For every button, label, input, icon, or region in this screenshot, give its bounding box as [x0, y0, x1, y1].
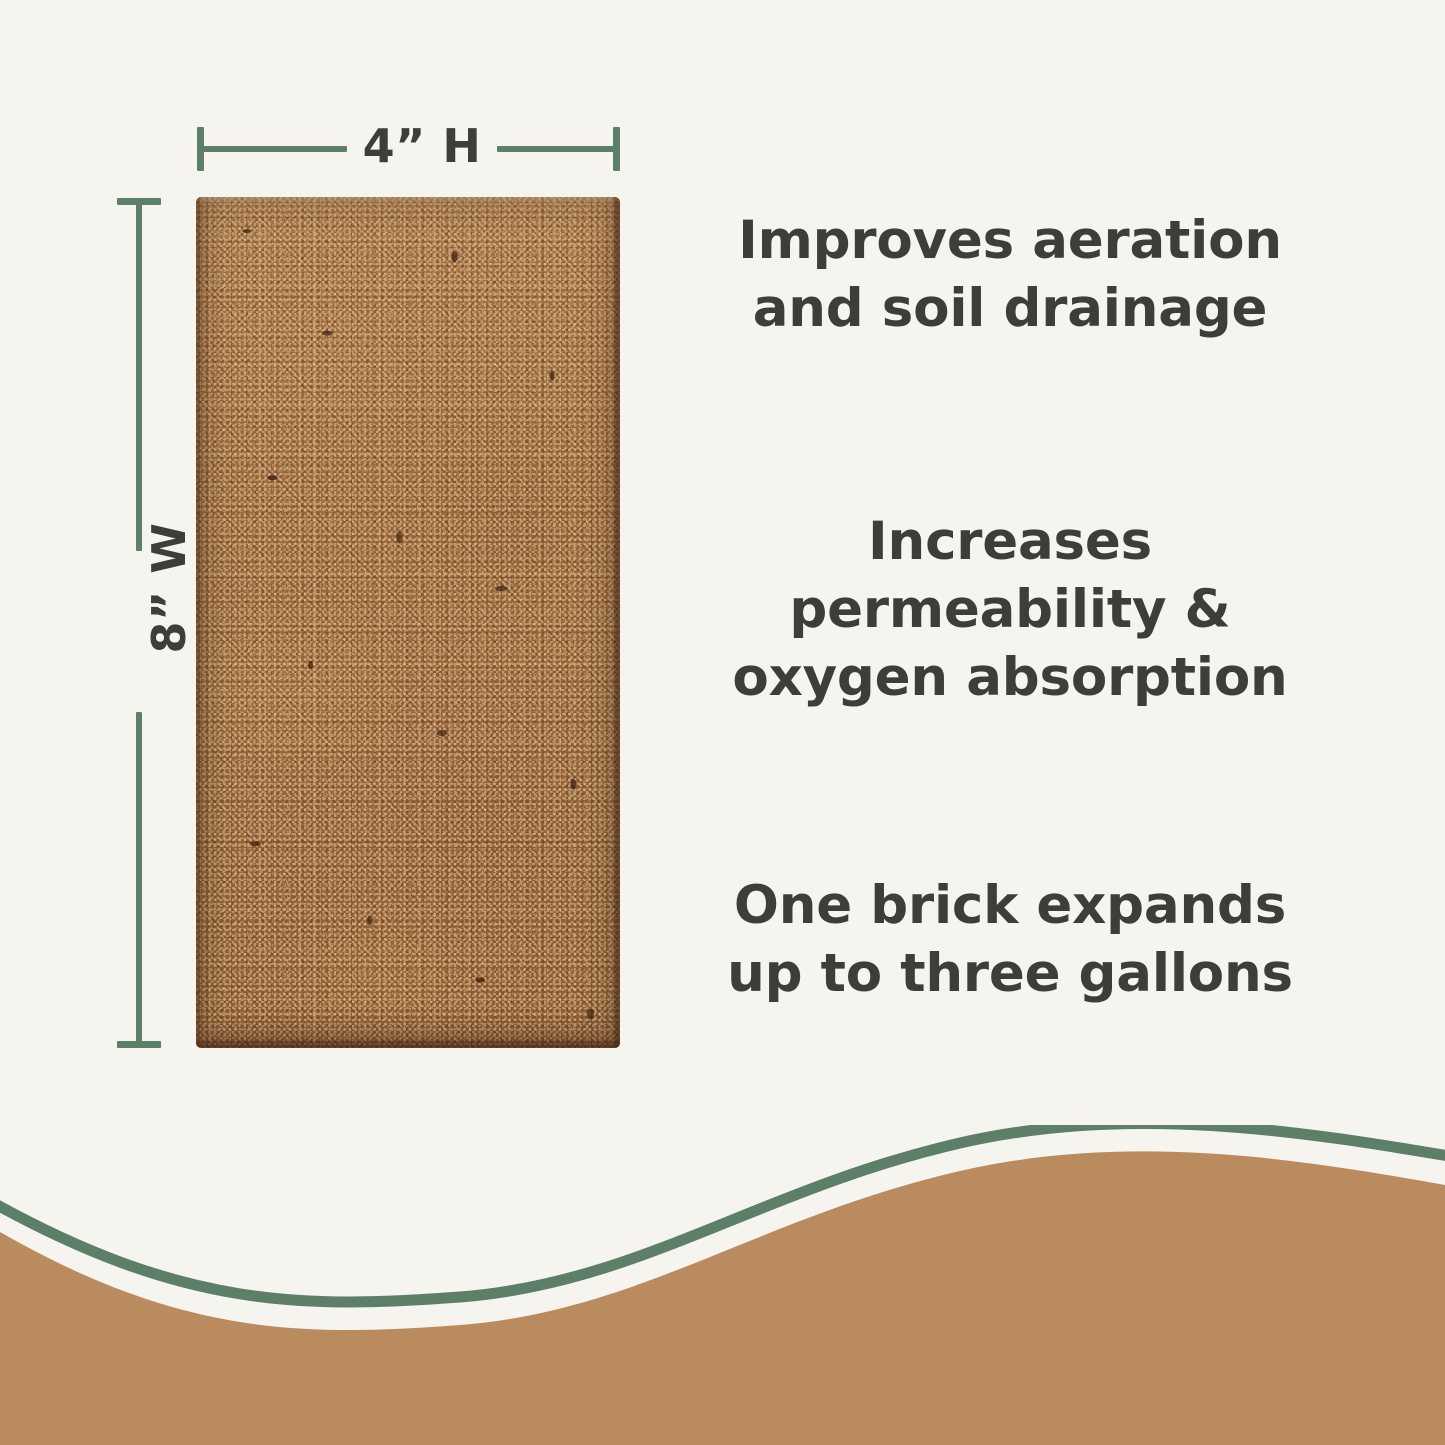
- feature-text-permeability: Increases permeability & oxygen absorpti…: [700, 508, 1320, 712]
- width-dimension-line-right: [497, 146, 617, 152]
- product-infographic: 4” H 8” W Improves aeration and soil dra…: [0, 0, 1445, 1445]
- feature-text-expansion: One brick expands up to three gallons: [700, 872, 1320, 1008]
- bottom-wave-decoration: [0, 1125, 1445, 1445]
- height-dimension-label: 8” W: [141, 478, 197, 698]
- width-dimension-label: 4” H: [352, 118, 492, 174]
- coco-coir-brick-image: [196, 197, 620, 1048]
- feature-text-aeration: Improves aeration and soil drainage: [700, 207, 1320, 343]
- height-dimension-line-bottom: [136, 712, 142, 1044]
- width-dimension-cap-right: [613, 127, 620, 171]
- width-dimension-line-left: [200, 146, 347, 152]
- wave-fill-shape: [0, 1151, 1445, 1445]
- height-dimension-cap-bottom: [117, 1041, 161, 1048]
